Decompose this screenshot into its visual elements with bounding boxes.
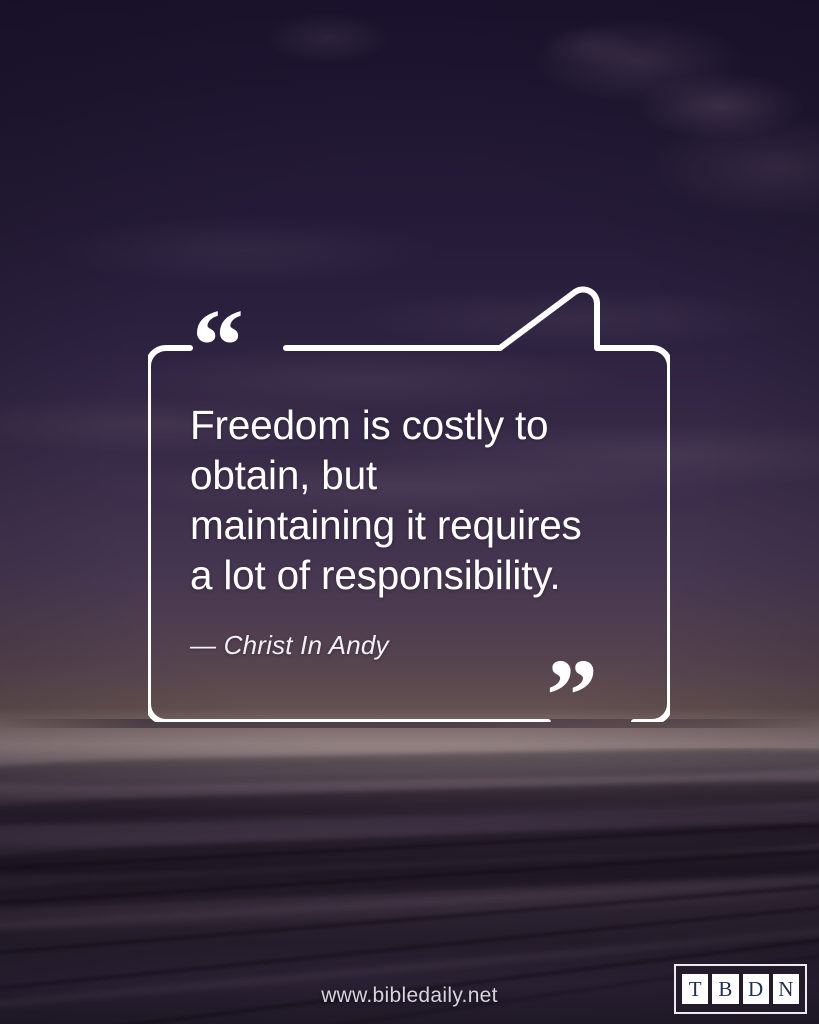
brand-logo[interactable]: T B D N [674,964,807,1014]
logo-letter-tile: N [773,974,799,1004]
quote-text: Freedom is costly to obtain, but maintai… [190,400,636,600]
brand-logo-inner: T B D N [679,969,802,1009]
quote-body: Freedom is costly to obtain, but maintai… [190,400,636,661]
logo-letter-tile: D [743,974,769,1004]
logo-letter-tile: B [712,974,738,1004]
quote-card: “ Freedom is costly to obtain, but maint… [148,284,670,722]
open-quote-icon: “ [192,294,242,398]
close-quote-icon: ” [546,644,596,748]
logo-letter-tile: T [682,974,708,1004]
